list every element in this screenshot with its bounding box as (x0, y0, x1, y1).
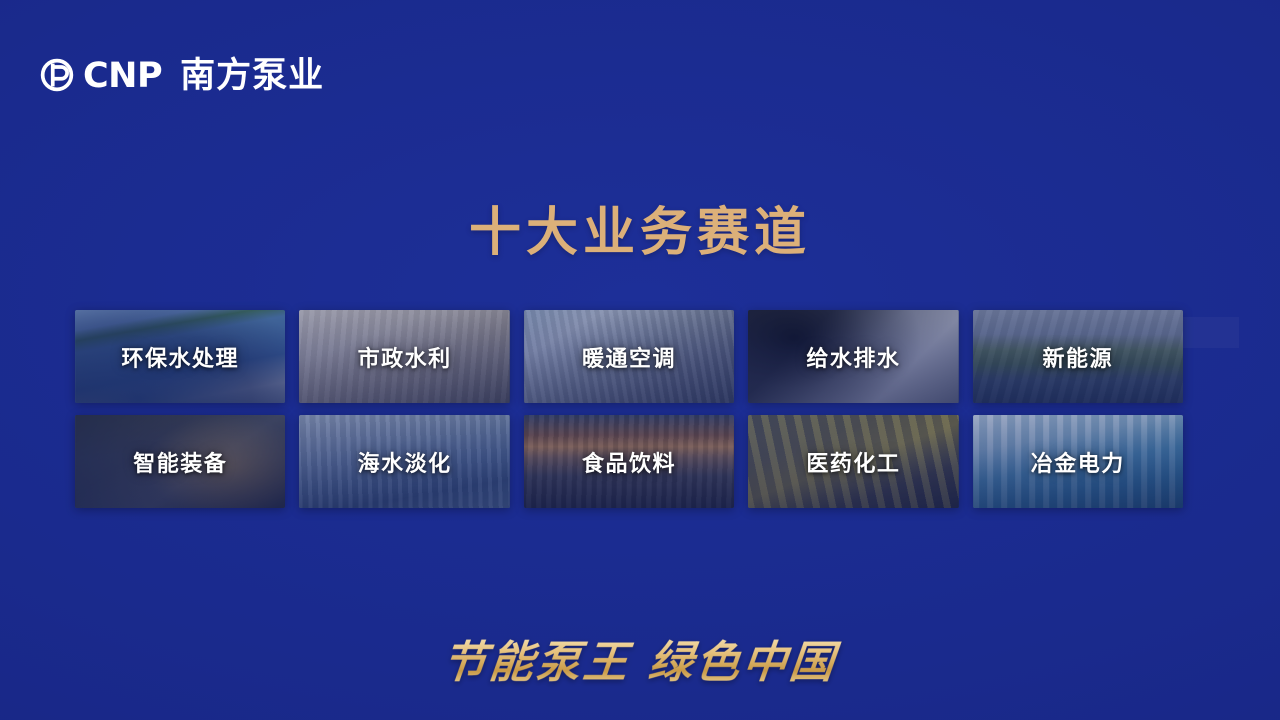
track-card[interactable]: 食品饮料 (524, 415, 734, 508)
track-label: 新能源 (1043, 341, 1114, 373)
ghost-panel (1183, 317, 1239, 348)
brand-chinese-name: 南方泵业 (180, 59, 324, 94)
slide-root: CNP 南方泵业 十大业务赛道 环保水处理 市政水利 暖通空调 给水排水 (0, 0, 1280, 720)
brand-logo: CNP 南方泵业 (40, 52, 324, 98)
track-card[interactable]: 市政水利 (299, 310, 509, 403)
track-card[interactable]: 新能源 (973, 310, 1183, 403)
track-label: 医药化工 (806, 446, 900, 478)
track-card[interactable]: 智能装备 (75, 415, 285, 508)
business-track-grid: 环保水处理 市政水利 暖通空调 给水排水 新能源 智能装备 (75, 310, 1183, 508)
track-card[interactable]: 海水淡化 (299, 415, 509, 508)
brand-latin-name: CNP (83, 59, 162, 94)
track-label: 海水淡化 (358, 446, 452, 478)
track-card[interactable]: 给水排水 (748, 310, 958, 403)
track-label: 智能装备 (133, 446, 227, 478)
track-card[interactable]: 暖通空调 (524, 310, 734, 403)
track-label: 给水排水 (806, 341, 900, 373)
track-label: 冶金电力 (1031, 446, 1125, 478)
cnp-monogram-icon (40, 58, 74, 92)
track-card[interactable]: 医药化工 (748, 415, 958, 508)
tagline: 节能泵王 绿色中国 (0, 626, 1280, 690)
page-title: 十大业务赛道 (0, 205, 1280, 262)
track-label: 食品饮料 (582, 446, 676, 478)
track-label: 暖通空调 (582, 341, 676, 373)
track-label: 环保水处理 (121, 341, 239, 373)
track-label: 市政水利 (358, 341, 452, 373)
track-card[interactable]: 冶金电力 (973, 415, 1183, 508)
track-card[interactable]: 环保水处理 (75, 310, 285, 403)
